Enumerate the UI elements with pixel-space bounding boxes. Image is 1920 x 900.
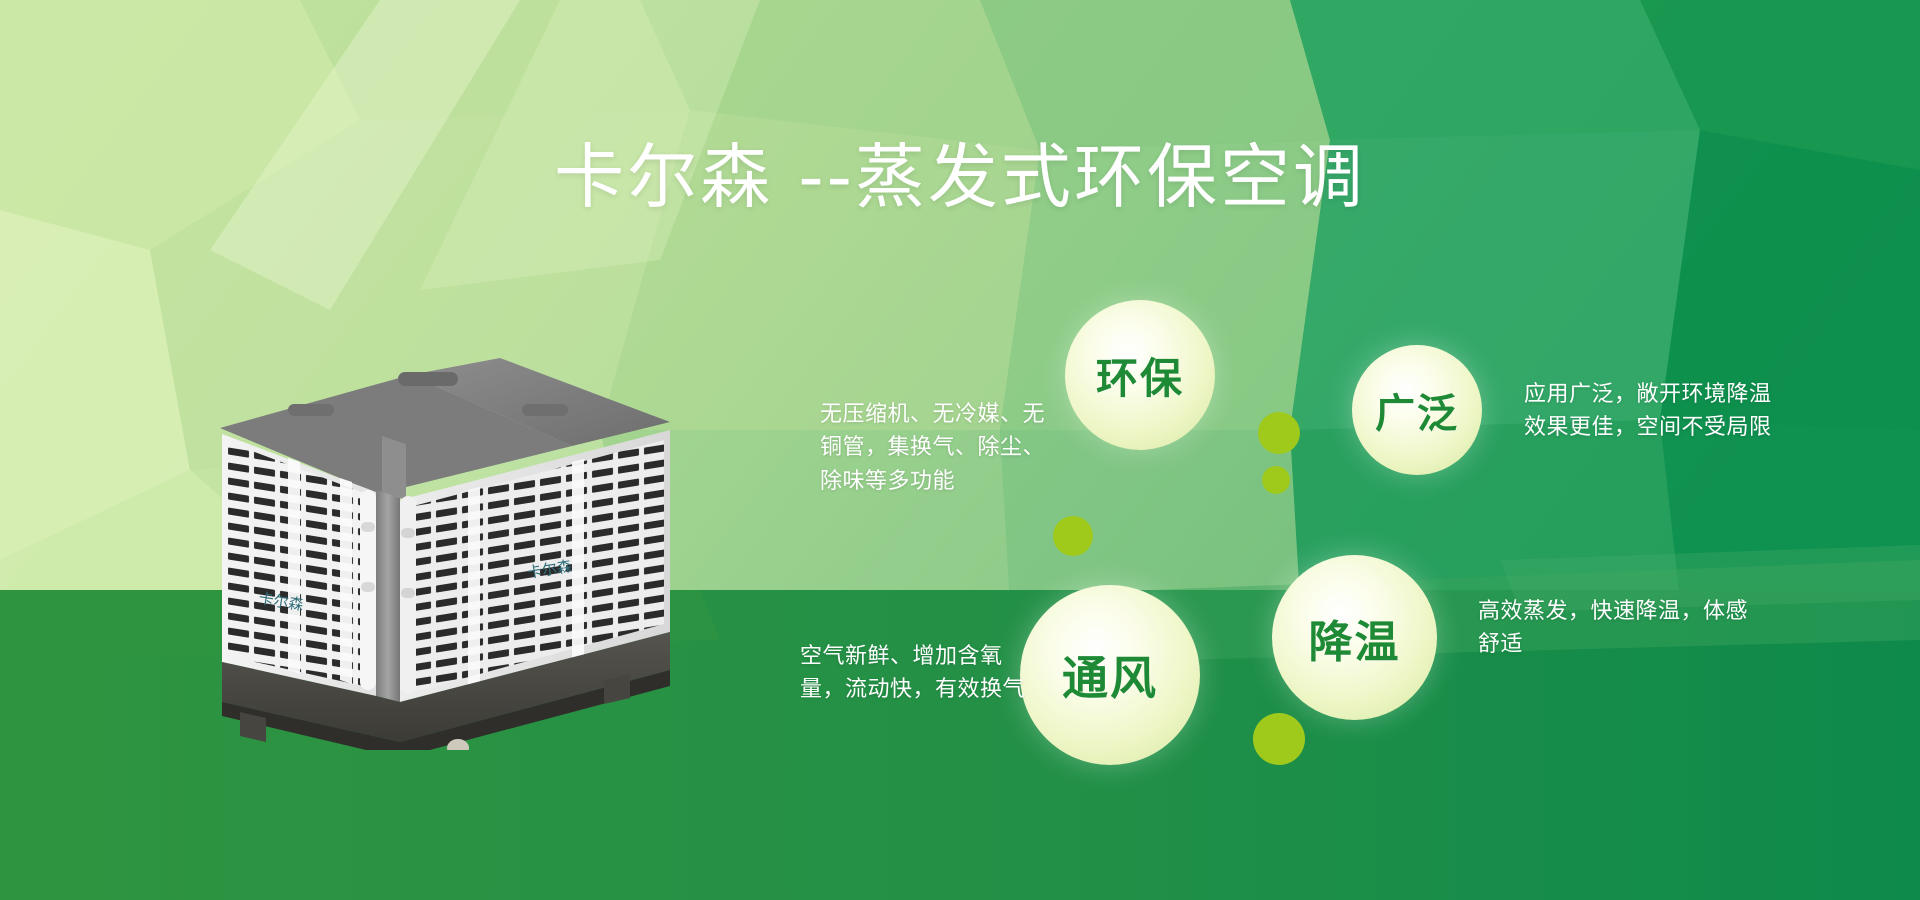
feature-caption-guangfan: 应用广泛，敞开环境降温效果更佳，空间不受局限 — [1524, 378, 1774, 445]
air-cooler-illustration: 卡尔森 卡尔森 — [200, 350, 700, 750]
feature-caption-huanbao-text: 无压缩机、无冷媒、无铜管，集换气、除尘、除味等多功能 — [820, 398, 1060, 498]
page-title: 卡尔森 --蒸发式环保空调 — [0, 140, 1920, 216]
feature-caption-huanbao: 无压缩机、无冷媒、无铜管，集换气、除尘、除味等多功能 — [820, 398, 1060, 498]
feature-bubble-huanbao[interactable]: 环保 — [1065, 300, 1215, 450]
feature-bubble-guangfan[interactable]: 广泛 — [1352, 345, 1482, 475]
feature-caption-jiangwen: 高效蒸发，快速降温，体感舒适 — [1478, 595, 1768, 662]
accent-dot-4 — [1253, 713, 1305, 765]
feature-label-jiangwen: 降温 — [1309, 606, 1401, 670]
accent-dot-1 — [1258, 412, 1300, 454]
accent-dot-2 — [1262, 466, 1290, 494]
feature-label-huanbao: 环保 — [1096, 345, 1184, 406]
feature-caption-tongfeng-text: 空气新鲜、增加含氧量，流动快，有效换气 — [800, 640, 1025, 707]
feature-caption-jiangwen-text: 高效蒸发，快速降温，体感舒适 — [1478, 595, 1768, 662]
feature-label-guangfan: 广泛 — [1375, 381, 1459, 439]
feature-caption-guangfan-text: 应用广泛，敞开环境降温效果更佳，空间不受局限 — [1524, 378, 1774, 445]
accent-dot-3 — [1053, 516, 1093, 556]
feature-bubble-jiangwen[interactable]: 降温 — [1272, 555, 1437, 720]
feature-label-tongfeng: 通风 — [1062, 642, 1158, 708]
feature-bubble-tongfeng[interactable]: 通风 — [1020, 585, 1200, 765]
feature-caption-tongfeng: 空气新鲜、增加含氧量，流动快，有效换气 — [800, 640, 1025, 707]
product-image: 卡尔森 卡尔森 — [200, 350, 700, 750]
promo-banner: 卡尔森 --蒸发式环保空调 — [0, 0, 1920, 900]
